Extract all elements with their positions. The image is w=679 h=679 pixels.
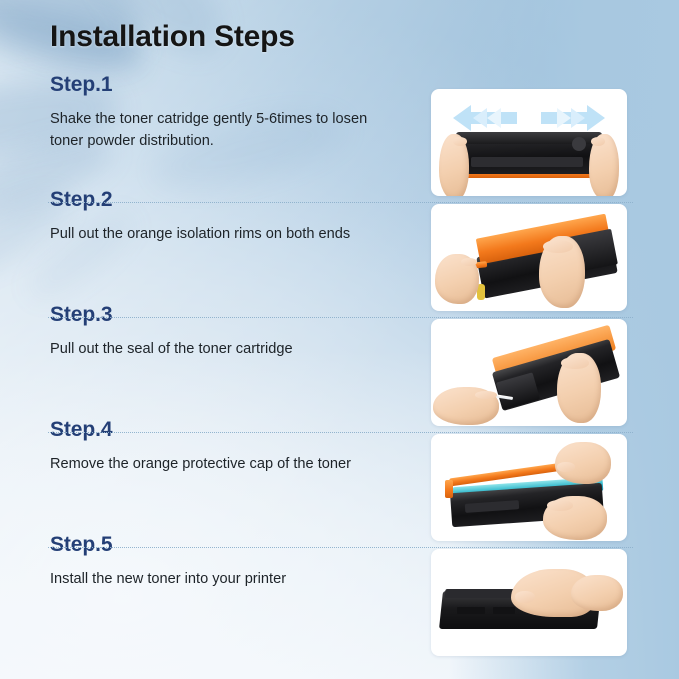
step-description: Pull out the seal of the toner cartridge: [50, 338, 390, 360]
finger: [561, 357, 589, 369]
step-description: Install the new toner into your printer: [50, 568, 390, 590]
step-item: Step.2 Pull out the orange isolation rim…: [0, 189, 679, 304]
step-item: Step.3 Pull out the seal of the toner ca…: [0, 304, 679, 419]
arrow-right-icon: [539, 103, 605, 133]
step-item: Step.4 Remove the orange protective cap …: [0, 419, 679, 534]
step-label: Step.2: [50, 189, 410, 210]
step-description: Remove the orange protective cap of the …: [50, 453, 390, 475]
cartridge-detail: [471, 157, 583, 167]
page-title: Installation Steps: [50, 20, 295, 54]
pull-toner-seal-photo: [431, 319, 627, 426]
finger: [591, 137, 605, 146]
remove-orange-protective-cap-photo: [431, 434, 627, 541]
pull-orange-isolation-rims-photo: [431, 204, 627, 311]
finger: [543, 240, 573, 253]
install-toner-into-printer-photo: [431, 549, 627, 656]
step-description: Pull out the orange isolation rims on bo…: [50, 223, 390, 245]
step-label: Step.1: [50, 74, 410, 95]
finger: [453, 137, 467, 146]
cartridge-gear: [572, 137, 586, 151]
step-divider: [48, 547, 633, 548]
step-item: Step.1 Shake the toner catridge gently 5…: [0, 74, 679, 189]
step-text-block: Step.3 Pull out the seal of the toner ca…: [50, 304, 410, 360]
step-figure-card: [431, 434, 627, 541]
step-text-block: Step.1 Shake the toner catridge gently 5…: [50, 74, 410, 152]
finger: [557, 462, 575, 472]
step-text-block: Step.5 Install the new toner into your p…: [50, 534, 410, 590]
printer-detail: [493, 607, 515, 614]
installation-steps-infographic: Installation Steps Step.1 Shake the tone…: [0, 0, 679, 679]
forearm: [571, 575, 623, 611]
printer-detail: [457, 607, 485, 614]
finger: [475, 391, 497, 399]
step-label: Step.5: [50, 534, 410, 555]
finger: [547, 500, 573, 511]
step-description: Shake the toner catridge gently 5-6times…: [50, 108, 390, 152]
step-item: Step.5 Install the new toner into your p…: [0, 534, 679, 649]
finger: [515, 591, 535, 603]
steps-list: Step.1 Shake the toner catridge gently 5…: [0, 74, 679, 649]
step-figure-card: [431, 204, 627, 311]
finger: [461, 258, 477, 266]
shake-toner-cartridge-photo: [431, 89, 627, 196]
step-figure-card: [431, 549, 627, 656]
step-divider: [48, 317, 633, 318]
orange-cap-end: [445, 480, 453, 498]
step-divider: [48, 202, 633, 203]
arrow-left-icon: [453, 103, 519, 133]
step-label: Step.4: [50, 419, 410, 440]
step-figure-card: [431, 89, 627, 196]
step-figure-card: [431, 319, 627, 426]
step-text-block: Step.4 Remove the orange protective cap …: [50, 419, 410, 475]
step-label: Step.3: [50, 304, 410, 325]
step-divider: [48, 432, 633, 433]
step-text-block: Step.2 Pull out the orange isolation rim…: [50, 189, 410, 245]
